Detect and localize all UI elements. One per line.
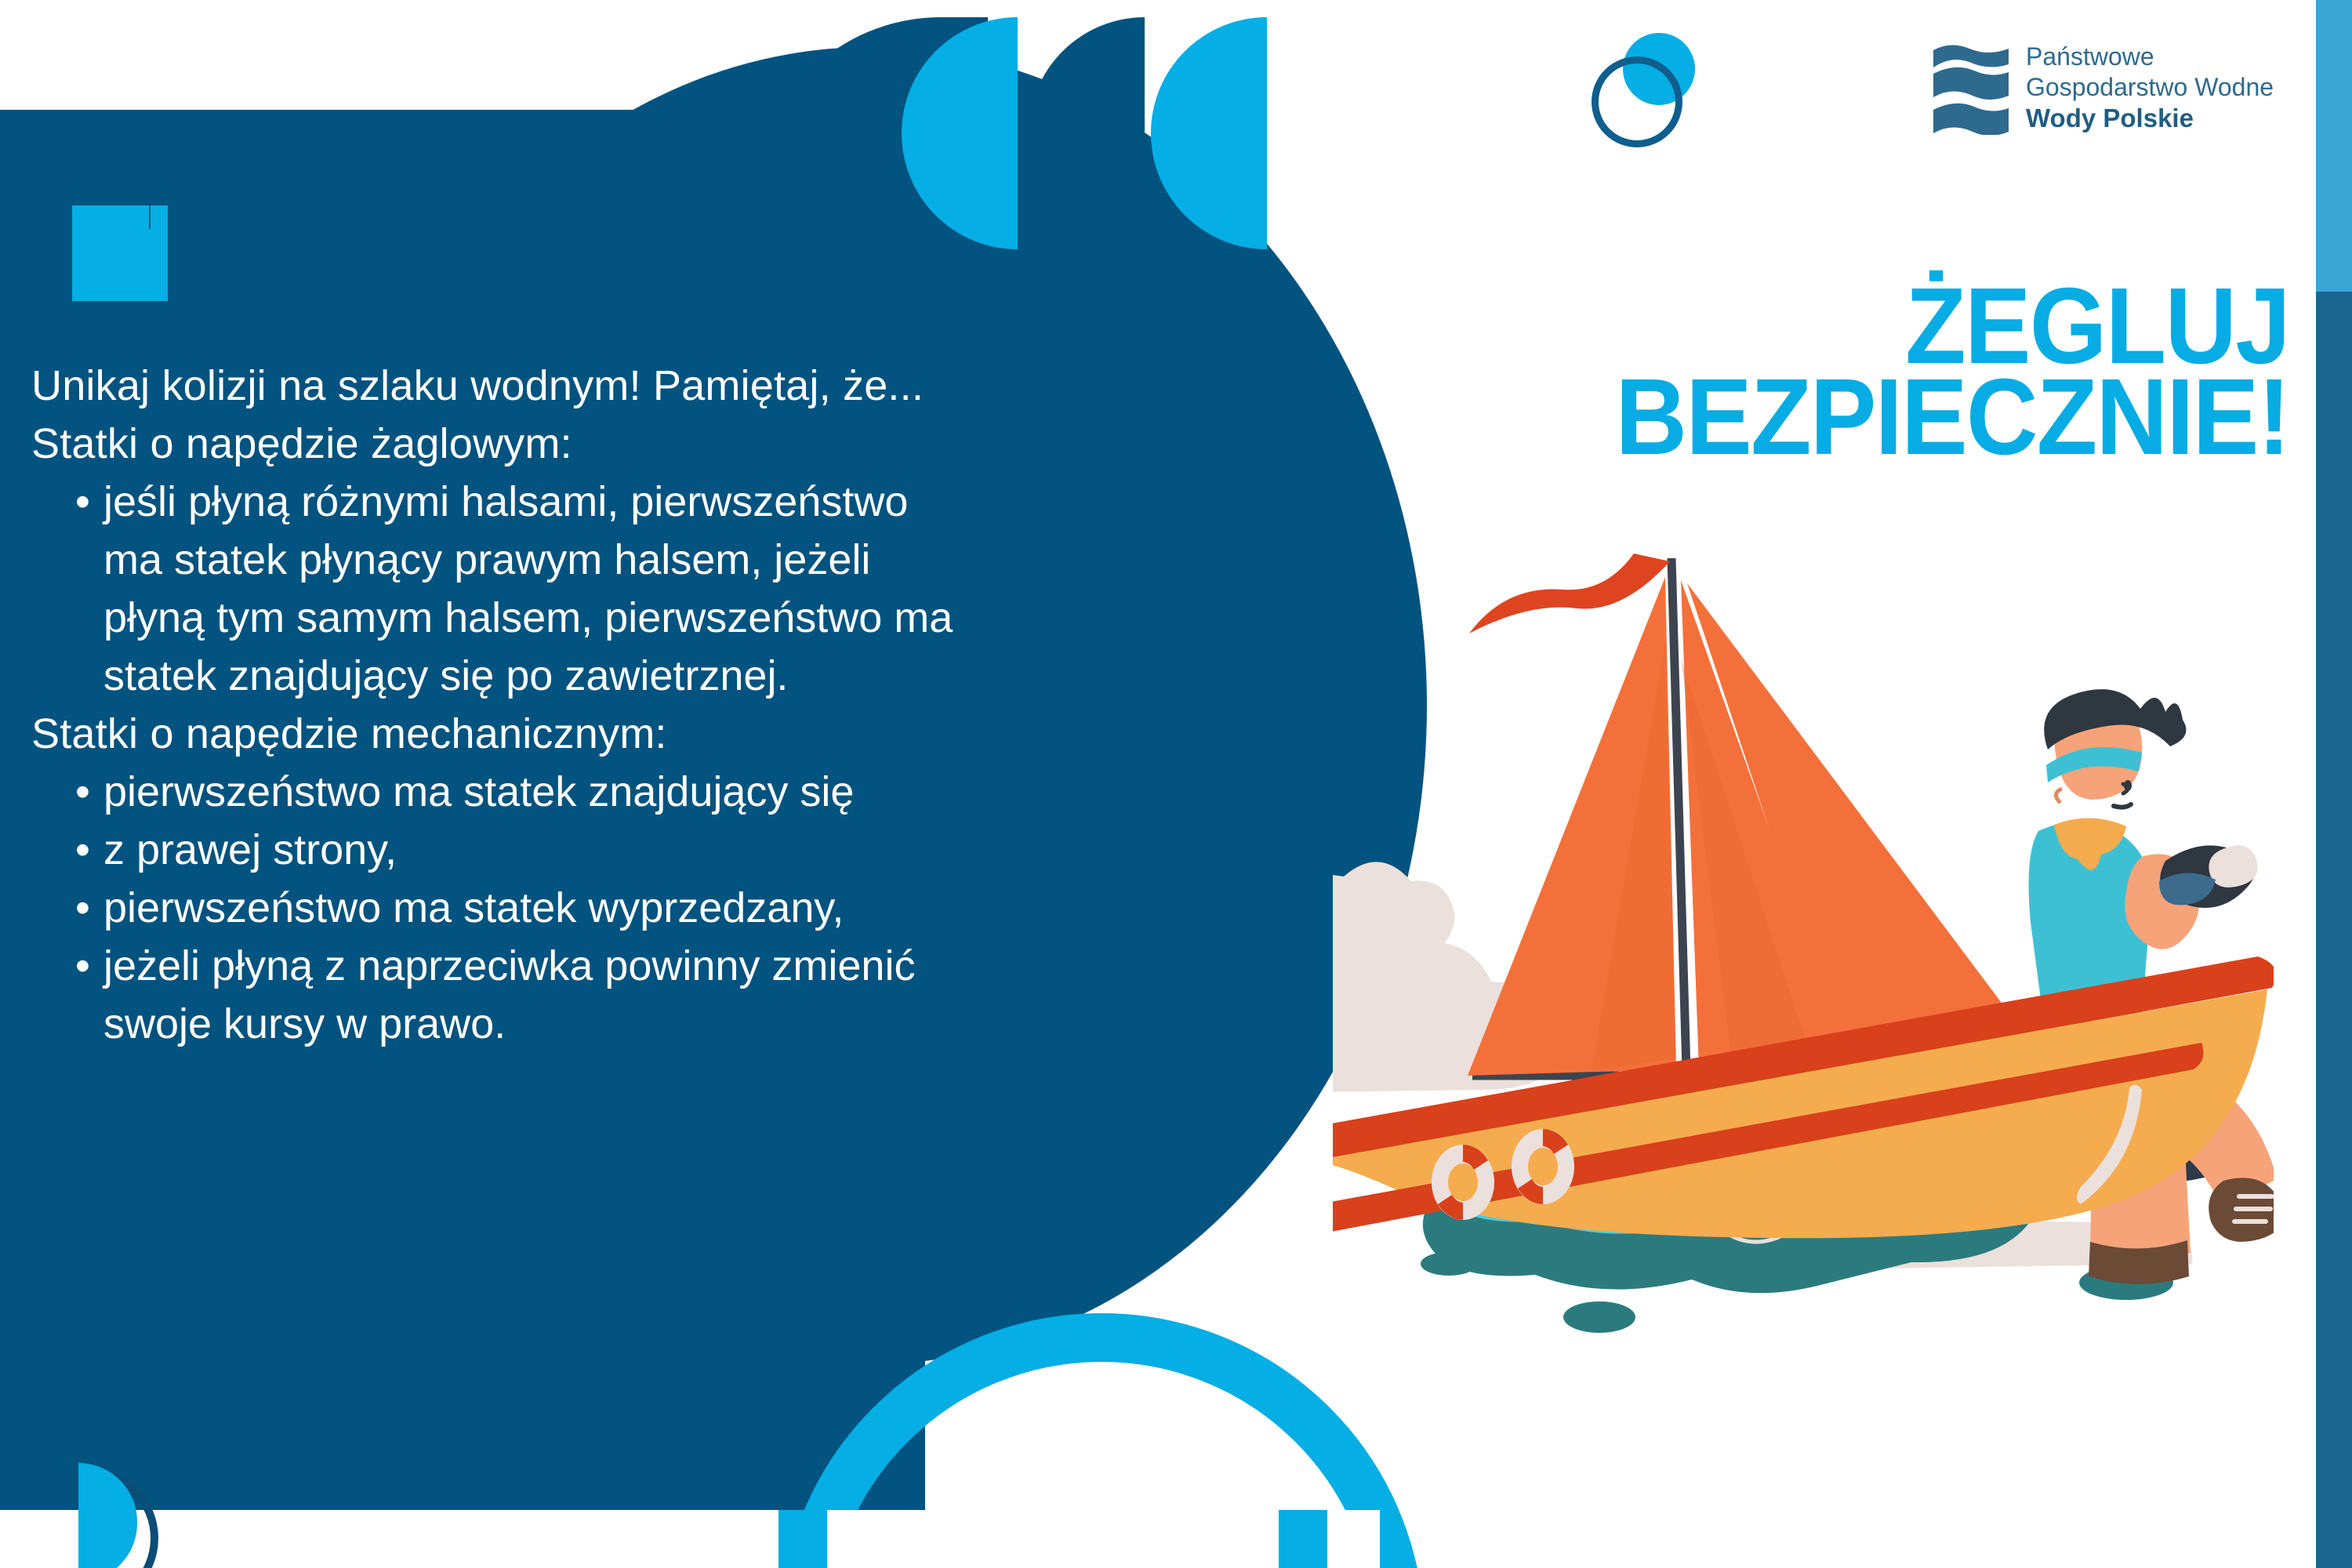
sailboat-illustration xyxy=(1333,549,2274,1380)
ring-lower-cyan-right xyxy=(1279,1510,1327,1568)
bullet-text: z prawej strony, xyxy=(103,821,1286,879)
list-item: pierwszeństwo ma statek znajdujący się xyxy=(31,763,1286,821)
right-edge-strip-light xyxy=(2316,0,2352,292)
bullet-text: jeżeli płyną z naprzeciwka powinny zmien… xyxy=(103,937,1286,1053)
logo-wordmark: Państwowe Gospodarstwo Wodne Wody Polski… xyxy=(2026,42,2274,134)
bullet-text: jeśli płyną różnymi halsami, pierwszeńst… xyxy=(103,473,1286,705)
logo-line-3: Wody Polskie xyxy=(2026,103,2274,134)
list-item: jeżeli płyną z naprzeciwka powinny zmien… xyxy=(31,937,1286,1053)
life-ring-2 xyxy=(1512,1129,1574,1204)
logo-line-1: Państwowe xyxy=(2026,42,2274,72)
bullet-text: pierwszeństwo ma statek znajdujący się xyxy=(103,763,1286,821)
section-1-title: Statki o napędzie żaglowym: xyxy=(31,415,1286,473)
logo-line-2: Gospodarstwo Wodne xyxy=(2026,72,2274,103)
life-ring-1 xyxy=(1432,1145,1494,1220)
list-item: pierwszeństwo ma statek wyprzedzany, xyxy=(31,879,1286,937)
headline: ŻEGLUJ BEZPIECZNIE! xyxy=(1279,281,2289,463)
intro-line: Unikaj kolizji na szlaku wodnym! Pamięta… xyxy=(31,357,1286,415)
section-2-title: Statki o napędzie mechanicznym: xyxy=(31,705,1286,763)
right-edge-strip-dark xyxy=(2316,292,2352,1568)
top-left-square-front xyxy=(72,205,149,282)
list-item: jeśli płyną różnymi halsami, pierwszeńst… xyxy=(31,473,1286,705)
wave-shield-logo-icon xyxy=(1919,41,2009,135)
headline-line-2: BEZPIECZNIE! xyxy=(1279,372,2289,463)
list-item: z prawej strony, xyxy=(31,821,1286,879)
bullet-text: pierwszeństwo ma statek wyprzedzany, xyxy=(103,879,1286,937)
wody-polskie-logo: Państwowe Gospodarstwo Wodne Wody Polski… xyxy=(1919,41,2274,135)
section-1-bullets: jeśli płyną różnymi halsami, pierwszeńst… xyxy=(31,473,1286,705)
poster-canvas: Państwowe Gospodarstwo Wodne Wody Polski… xyxy=(0,0,2352,1568)
pennant-flag xyxy=(1469,554,1670,633)
section-2-bullets: pierwszeństwo ma statek znajdujący się z… xyxy=(31,763,1286,1053)
top-left-square-right-bar xyxy=(151,205,168,301)
logo-circle-outline-blue xyxy=(1592,56,1682,147)
ring-lower-cyan-left xyxy=(779,1510,827,1568)
body-copy: Unikaj kolizji na szlaku wodnym! Pamięta… xyxy=(31,357,1286,1053)
